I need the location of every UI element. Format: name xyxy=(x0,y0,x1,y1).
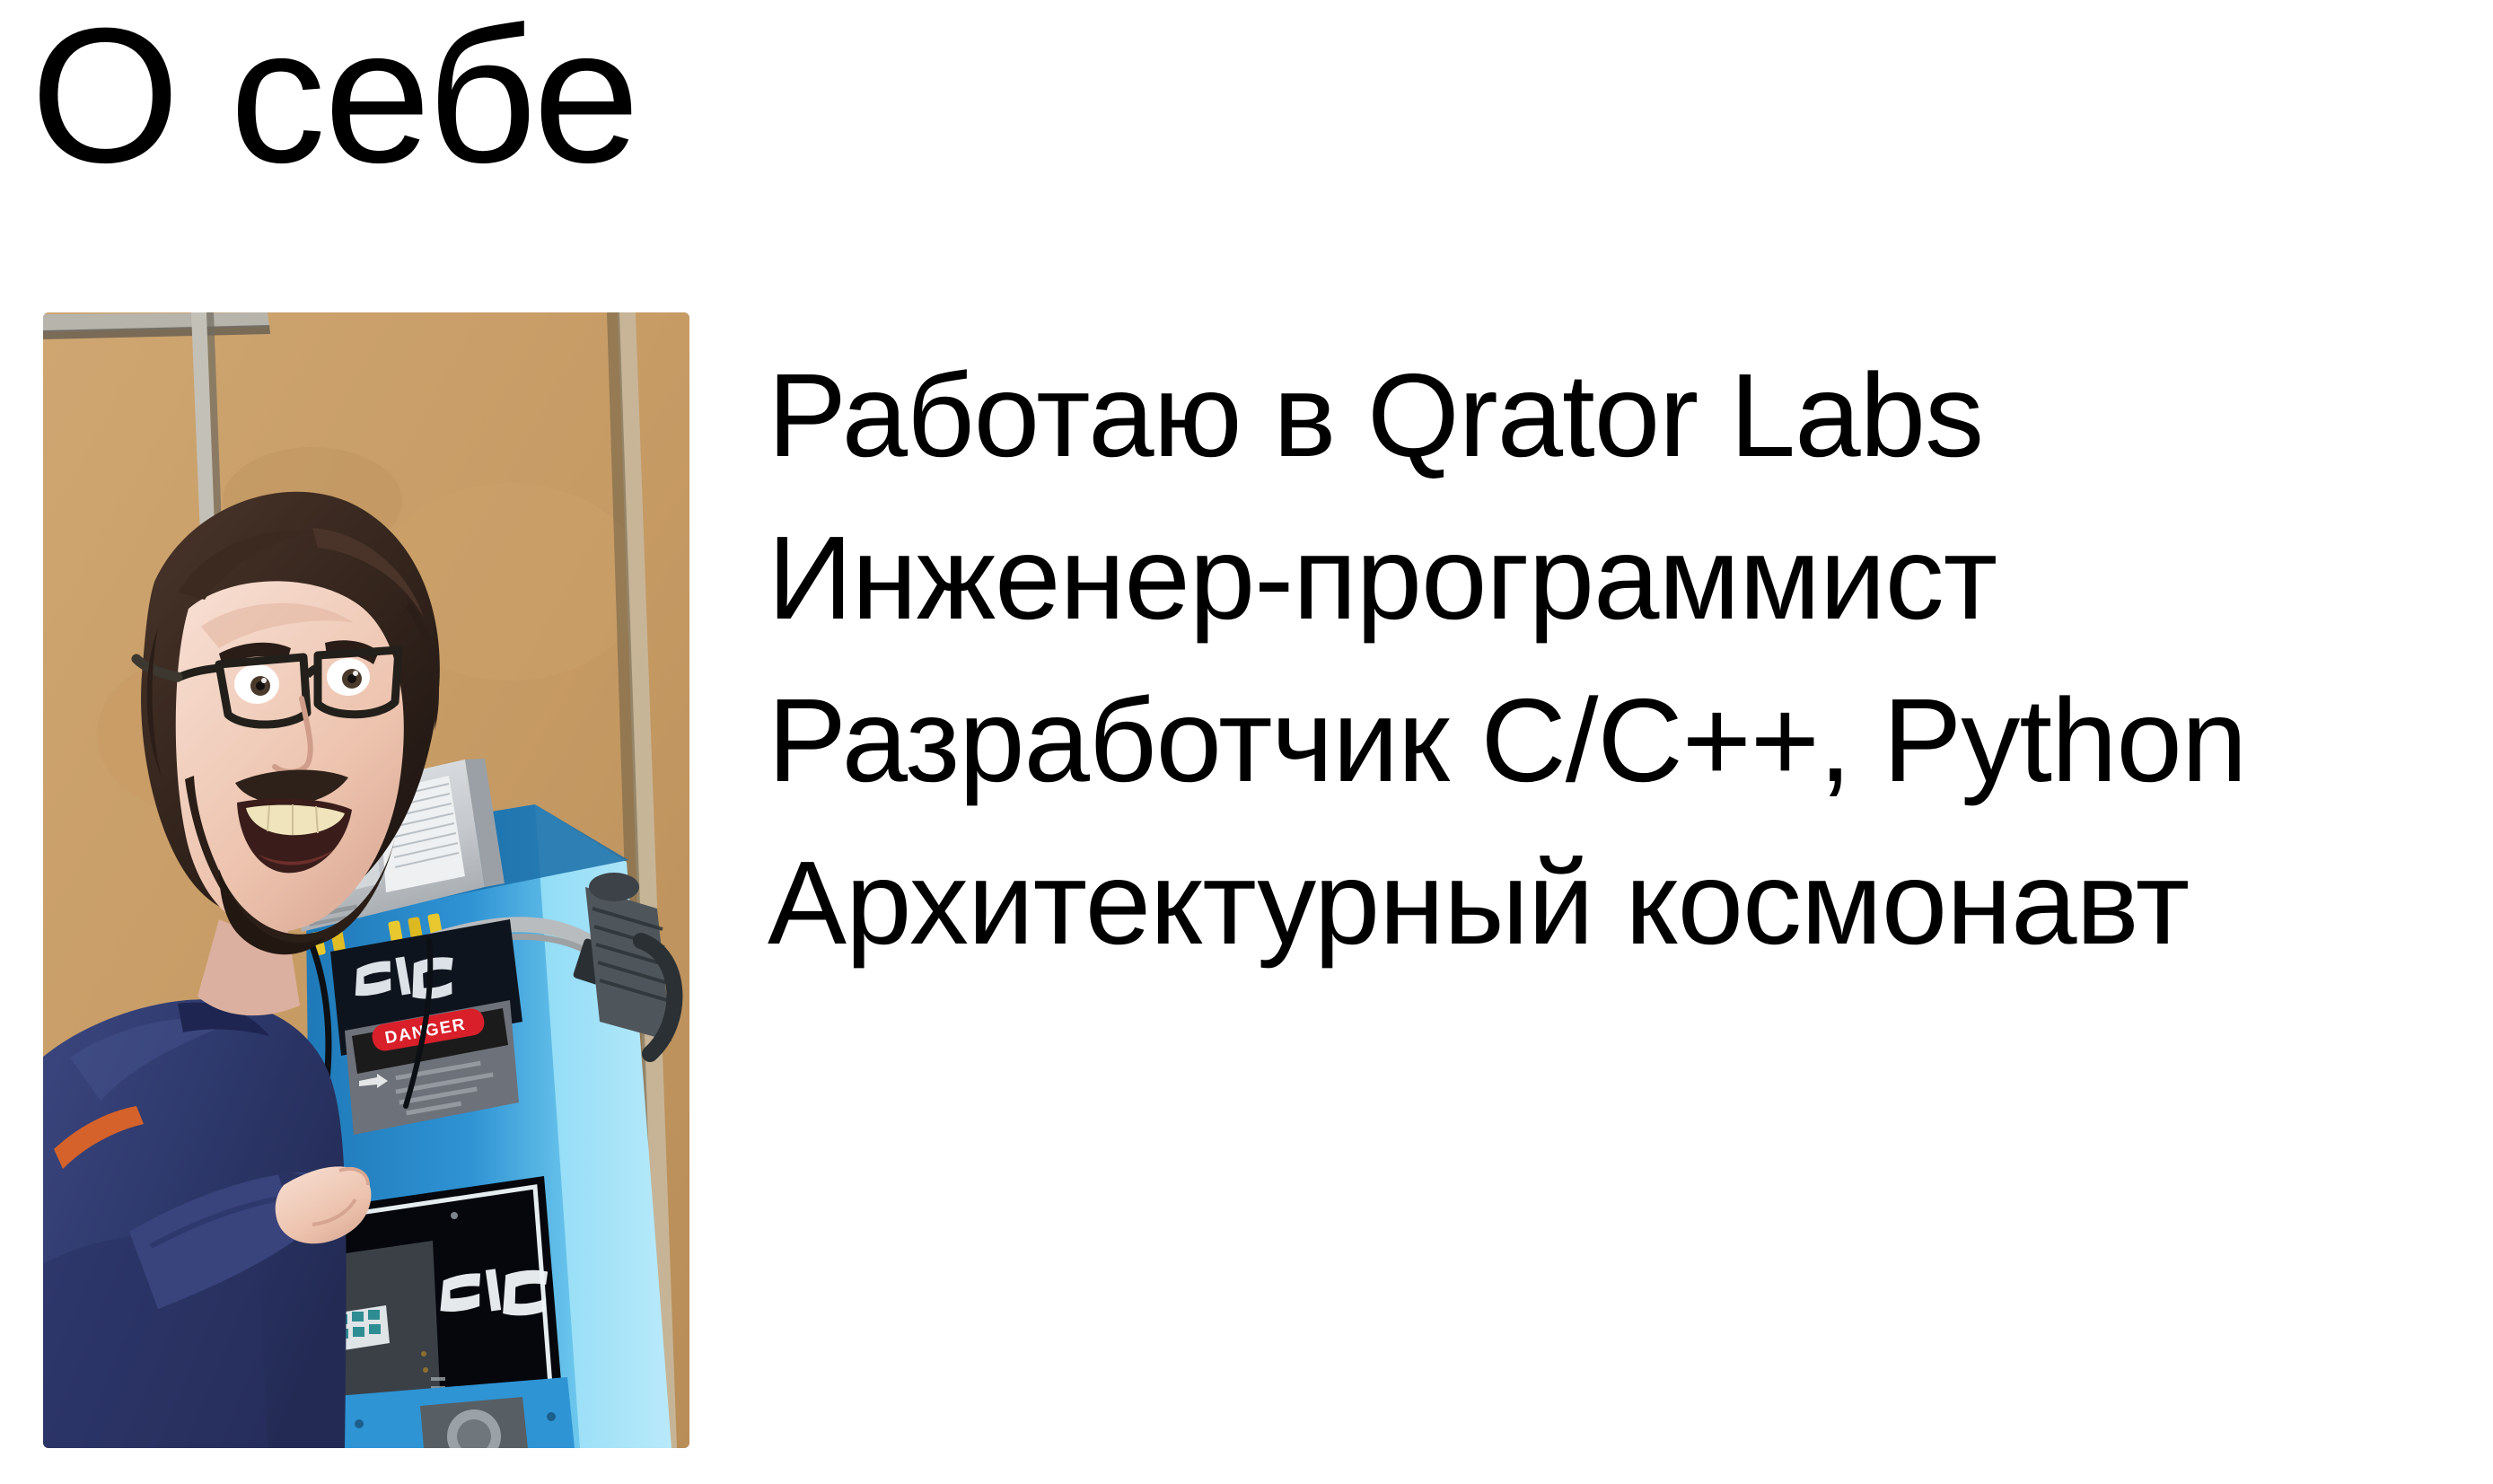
list-item: Работаю в Qrator Labs xyxy=(768,334,2446,496)
page-title: О себе xyxy=(31,0,638,192)
profile-photo-illustration: DANGER xyxy=(43,312,689,1448)
list-item: Разработчик C/C++, Python xyxy=(768,659,2446,821)
bullet-list: Работаю в Qrator Labs Инженер-программис… xyxy=(768,334,2446,984)
slide-root: { "slide": { "title": "О себе", "backgro… xyxy=(0,0,2493,1484)
profile-photo: DANGER xyxy=(43,312,689,1448)
list-item: Архитектурный космонавт xyxy=(768,821,2446,984)
list-item: Инженер-программист xyxy=(768,496,2446,659)
